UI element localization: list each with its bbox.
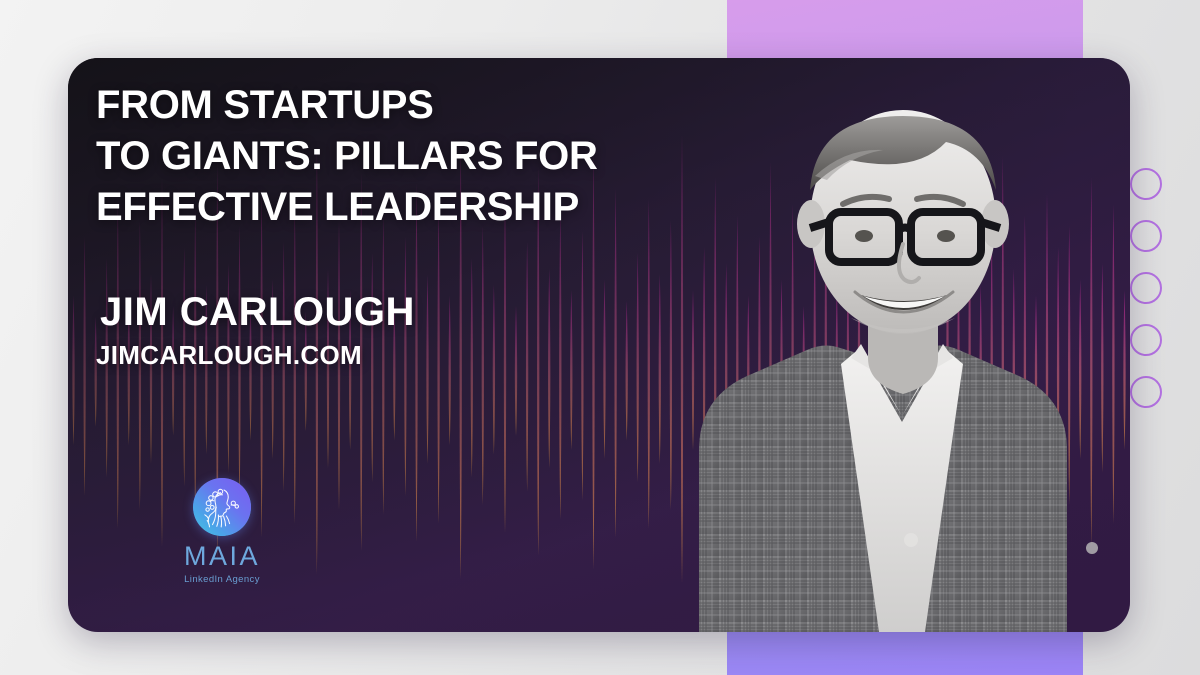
maia-tagline: LinkedIn Agency — [184, 575, 260, 585]
maia-goddess-profile-icon — [193, 478, 251, 536]
page-title: FROM STARTUPS TO GIANTS: PILLARS FOR EFF… — [96, 80, 716, 234]
speaker-name: JIM CARLOUGH — [100, 292, 716, 332]
maia-wordmark: MAIA — [184, 543, 260, 570]
decorative-circle-icon — [1130, 168, 1162, 200]
title-line-3: EFFECTIVE LEADERSHIP — [96, 182, 716, 233]
decorative-circle-icon — [1130, 220, 1162, 252]
speaker-website[interactable]: JIMCARLOUGH.COM — [96, 342, 716, 368]
headline-block: FROM STARTUPS TO GIANTS: PILLARS FOR EFF… — [96, 80, 716, 368]
episode-card: FROM STARTUPS TO GIANTS: PILLARS FOR EFF… — [68, 58, 1130, 632]
decorative-circle-icon — [1130, 376, 1162, 408]
decorative-circle-icon — [1130, 324, 1162, 356]
episode-cover-canvas: FROM STARTUPS TO GIANTS: PILLARS FOR EFF… — [0, 0, 1200, 675]
title-line-2: TO GIANTS: PILLARS FOR — [96, 131, 716, 182]
title-line-1: FROM STARTUPS — [96, 80, 716, 131]
decorative-circle-icon — [1130, 272, 1162, 304]
speaker-portrait — [675, 72, 1130, 632]
maia-logo-lockup[interactable]: MAIA LinkedIn Agency — [152, 478, 292, 585]
